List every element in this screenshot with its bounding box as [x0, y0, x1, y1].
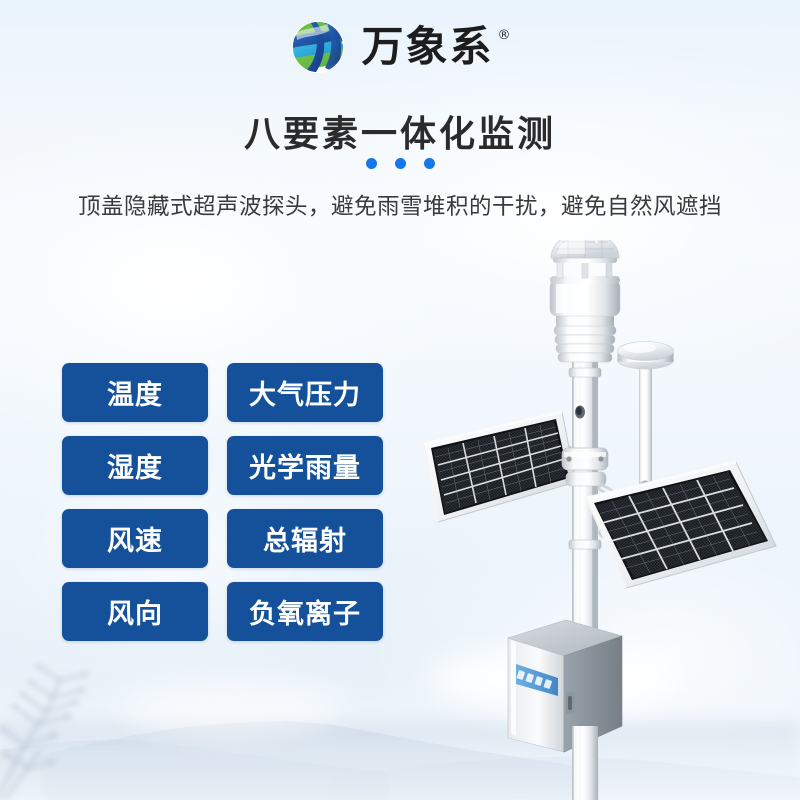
- cloud-puff: [120, 680, 340, 736]
- feature-tag-optical-rainfall[interactable]: 光学雨量: [227, 436, 383, 495]
- page-subtitle: 顶盖隐藏式超声波探头，避免雨雪堆积的干扰，避免自然风遮挡: [0, 189, 800, 221]
- divider-dot: [366, 158, 377, 169]
- page-title: 八要素一体化监测: [0, 105, 800, 157]
- divider-dot: [395, 158, 406, 169]
- panel-mount-clamp: [562, 448, 608, 486]
- control-cabinet: [508, 620, 622, 752]
- feature-tag-total-radiation[interactable]: 总辐射: [227, 509, 383, 568]
- feature-tag-humidity[interactable]: 湿度: [62, 436, 208, 495]
- divider-dot: [424, 158, 435, 169]
- feature-tag-grid: 温度 大气压力 湿度 光学雨量 风速 总辐射 风向 负氧离子: [62, 363, 383, 641]
- registered-trademark-icon: ®: [498, 28, 511, 43]
- solar-panel-right: [586, 462, 776, 588]
- feature-tag-wind-direction[interactable]: 风向: [62, 582, 208, 641]
- feature-tag-wind-speed[interactable]: 风速: [62, 509, 208, 568]
- mountain-ridge-mid: [0, 708, 390, 800]
- brand-header: 万象系 ®: [0, 18, 800, 76]
- feature-tag-temperature[interactable]: 温度: [62, 363, 208, 422]
- feature-tag-negative-oxygen-ion[interactable]: 负氧离子: [227, 582, 383, 641]
- globe-swirl-logo-icon: [289, 18, 347, 76]
- feature-tag-air-pressure[interactable]: 大气压力: [227, 363, 383, 422]
- promo-poster: 万象系 ® 八要素一体化监测 顶盖隐藏式超声波探头，避免雨雪堆积的干扰，避免自然…: [0, 0, 800, 800]
- solar-panel-left: [424, 412, 576, 522]
- brand-name: 万象系: [361, 26, 493, 68]
- tree-branch-silhouette: [0, 650, 114, 800]
- integrated-weather-station-illustration: [390, 240, 800, 800]
- three-dots-divider: [0, 158, 800, 169]
